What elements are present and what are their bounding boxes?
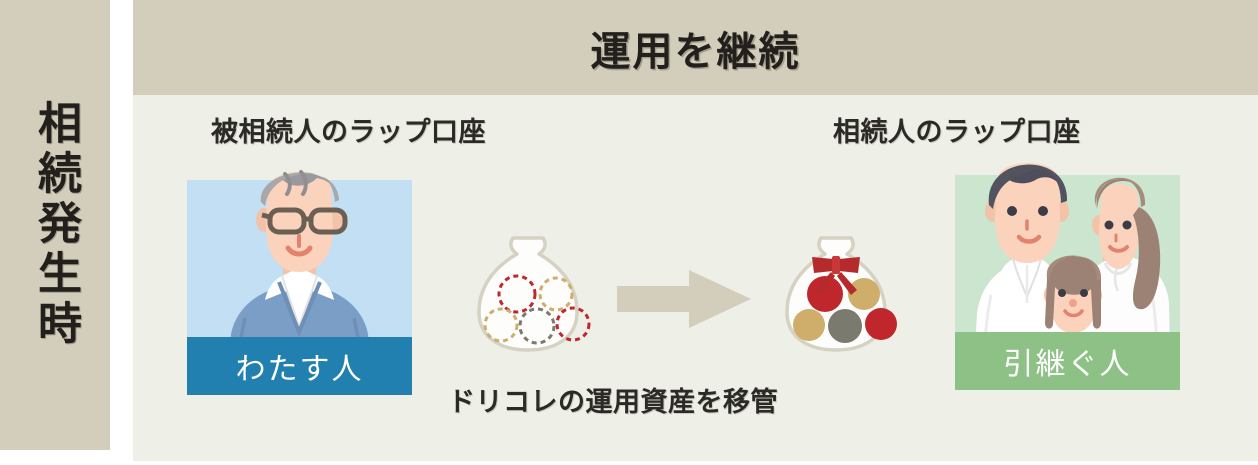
money-bag-target [771,228,901,358]
sidebar-label: 相続発生時 [33,100,77,350]
person-card-giver: わたす人 [187,180,412,395]
name-band-heirs: 引継ぐ人 [955,332,1180,390]
panel-header: 運用を継続 [133,0,1258,95]
person-card-heirs: 引継ぐ人 [955,175,1180,390]
money-bag-outline-icon [463,228,593,358]
name-band-giver: わたす人 [187,337,412,395]
heading-decedent-wrap-account: 被相続人のラップ口座 [211,110,486,149]
transfer-arrow [617,268,752,330]
arrow-right-icon [617,268,752,330]
money-bag-tied-icon [771,228,901,358]
money-bag-source [463,228,593,358]
page-title: 運用を継続 [591,19,801,77]
heading-heir-wrap-account: 相続人のラップ口座 [833,110,1081,149]
sidebar-inheritance-event: 相続発生時 [0,0,110,450]
main-panel: 運用を継続 被相続人のラップ口座 相続人のラップ口座 [133,0,1258,461]
transfer-caption: ドリコレの運用資産を移管 [333,380,893,419]
